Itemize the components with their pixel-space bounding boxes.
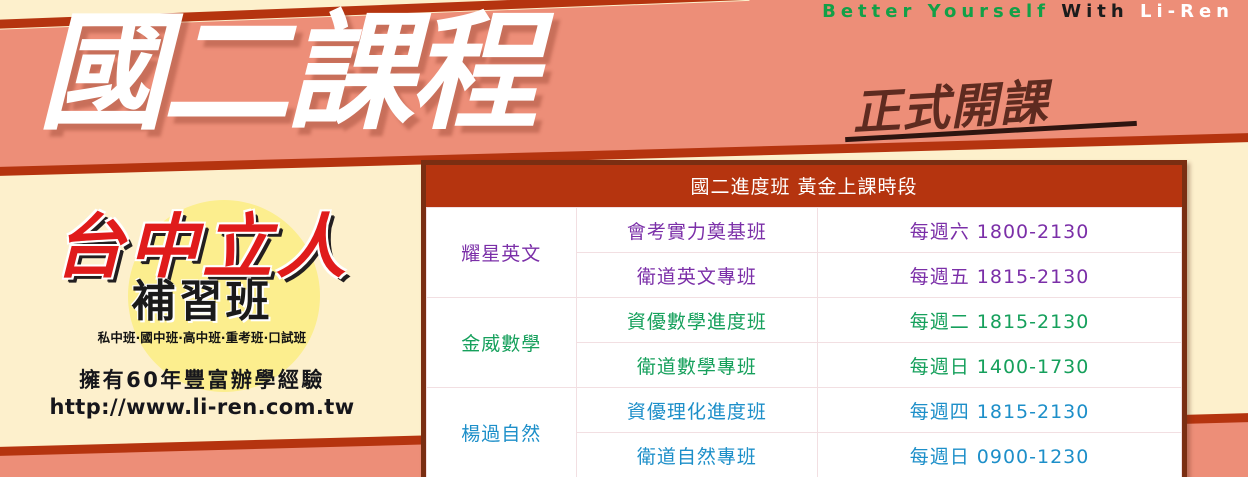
subject-cell: 楊過自然 [427, 388, 577, 477]
schedule-table: 耀星英文 會考實力奠基班 每週六 1800-2130 衛道英文專班 每週五 18… [426, 207, 1182, 477]
schedule-table-container: 國二進度班 黃金上課時段 耀星英文 會考實力奠基班 每週六 1800-2130 … [421, 160, 1187, 477]
course-cell: 衛道自然專班 [576, 433, 818, 477]
course-cell: 資優數學進度班 [576, 298, 818, 343]
course-cell: 衛道數學專班 [576, 343, 818, 388]
tagline-word-liren: Li-Ren [1140, 1, 1234, 22]
table-row: 金威數學 資優數學進度班 每週二 1815-2130 [427, 298, 1182, 343]
subject-cell: 耀星英文 [427, 208, 577, 298]
time-cell: 每週日 1400-1730 [818, 343, 1182, 388]
subject-cell: 金威數學 [427, 298, 577, 388]
course-cell: 衛道英文專班 [576, 253, 818, 298]
time-cell: 每週四 1815-2130 [818, 388, 1182, 433]
school-logo-block: 台中立人 補習班 私中班‧國中班‧高中班‧重考班‧口試班 擁有60年豐富辦學經驗… [26, 212, 378, 419]
time-cell: 每週五 1815-2130 [818, 253, 1182, 298]
time-cell: 每週日 0900-1230 [818, 433, 1182, 477]
table-row: 耀星英文 會考實力奠基班 每週六 1800-2130 [427, 208, 1182, 253]
promotional-banner: Better Yourself With Li-Ren 國二課程 正式開課 台中… [0, 0, 1248, 477]
course-cell: 資優理化進度班 [576, 388, 818, 433]
logo-website-url[interactable]: http://www.li-ren.com.tw [26, 395, 378, 419]
tagline-word-better: Better [822, 1, 916, 22]
logo-experience-text: 擁有60年豐富辦學經驗 [26, 364, 378, 394]
time-cell: 每週六 1800-2130 [818, 208, 1182, 253]
logo-program-list: 私中班‧國中班‧高中班‧重考班‧口試班 [26, 327, 378, 346]
headline-title: 國二課程 [38, 10, 534, 138]
schedule-header: 國二進度班 黃金上課時段 [426, 165, 1182, 207]
tagline-word-yourself: Yourself [928, 1, 1050, 22]
time-cell: 每週二 1815-2130 [818, 298, 1182, 343]
tagline: Better Yourself With Li-Ren [822, 1, 1234, 22]
course-cell: 會考實力奠基班 [576, 208, 818, 253]
tagline-word-with: With [1061, 1, 1128, 22]
table-row: 楊過自然 資優理化進度班 每週四 1815-2130 [427, 388, 1182, 433]
logo-school-name: 台中立人 [26, 212, 378, 283]
